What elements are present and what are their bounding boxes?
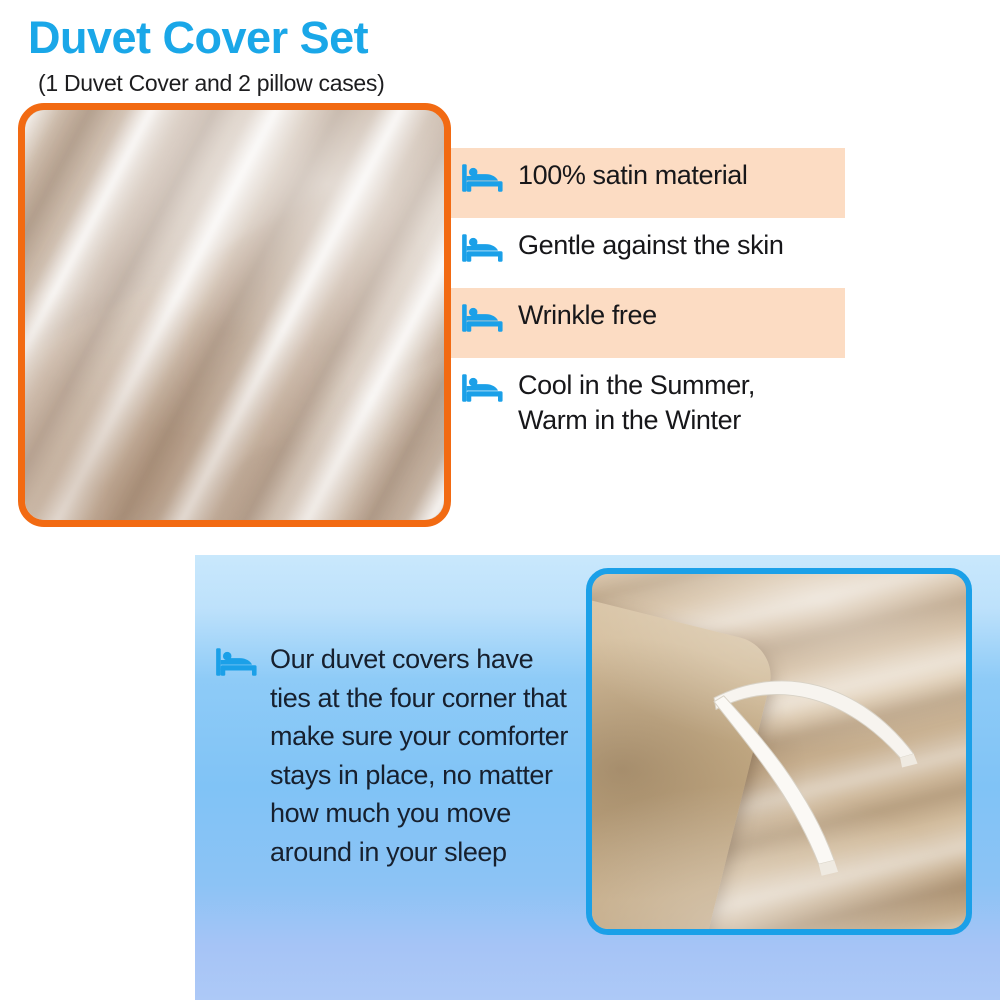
tie-photo-inner xyxy=(592,574,966,929)
feature-item: 100% satin material xyxy=(451,148,1000,218)
feature-item: Wrinkle free xyxy=(451,288,1000,358)
bed-icon xyxy=(462,233,504,263)
product-infographic: Duvet Cover Set (1 Duvet Cover and 2 pil… xyxy=(0,0,1000,1000)
satin-fabric-photo-inner xyxy=(25,110,444,520)
bed-icon xyxy=(462,373,504,403)
duvet-corner-tie-photo xyxy=(586,568,972,935)
page-subtitle: (1 Duvet Cover and 2 pillow cases) xyxy=(38,70,384,97)
page-title: Duvet Cover Set xyxy=(28,14,368,61)
description-text: Our duvet covers have ties at the four c… xyxy=(270,640,580,872)
fabric-sheen xyxy=(25,110,444,520)
feature-item: Gentle against the skin xyxy=(451,218,1000,288)
white-ribbon-ties xyxy=(592,574,966,929)
feature-label: Cool in the Summer, Warm in the Winter xyxy=(518,367,755,438)
feature-list: 100% satin material Gentle against the s… xyxy=(451,148,1000,447)
feature-label: Wrinkle free xyxy=(518,297,657,333)
bed-icon xyxy=(462,163,504,193)
bed-icon xyxy=(462,303,504,333)
description-block: Our duvet covers have ties at the four c… xyxy=(216,640,586,872)
feature-label: Gentle against the skin xyxy=(518,227,783,263)
bed-icon xyxy=(216,647,258,677)
feature-label: 100% satin material xyxy=(518,157,748,193)
feature-item: Cool in the Summer, Warm in the Winter xyxy=(451,358,1000,447)
satin-fabric-photo xyxy=(18,103,451,527)
